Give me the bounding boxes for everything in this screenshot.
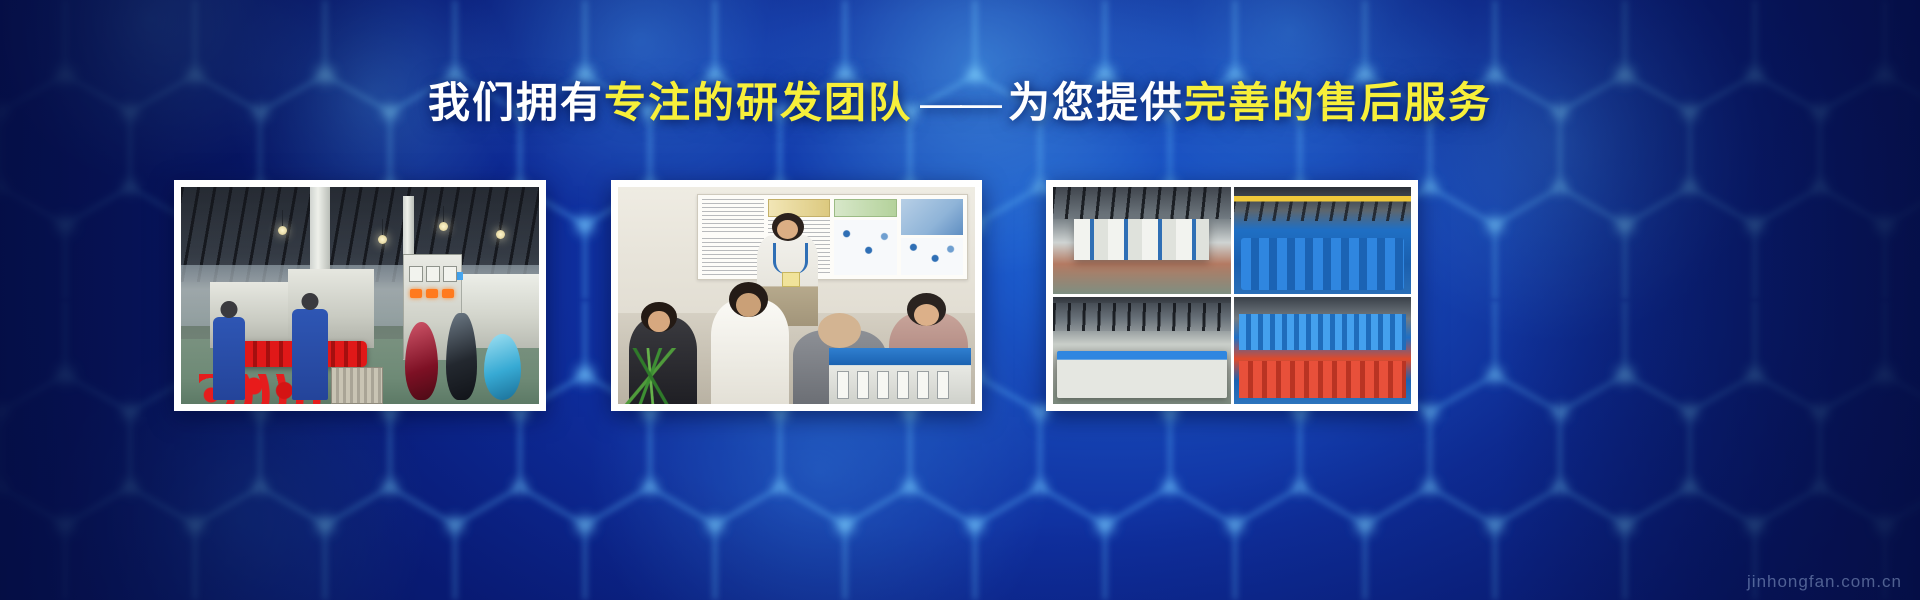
headline: 我们拥有专注的研发团队——为您提供完善的售后服务	[428, 78, 1492, 128]
photo-card-team-meeting	[611, 180, 982, 411]
seated-person-dark-face	[648, 311, 669, 333]
headline-part-2-highlight: 专注的研发团队	[604, 79, 912, 126]
ceiling-lamp-3	[439, 222, 448, 231]
foreground-person-head	[818, 313, 861, 348]
vase-red	[405, 322, 439, 400]
photo-card-production-line	[174, 180, 546, 411]
promo-banner: 我们拥有专注的研发团队——为您提供完善的售后服务	[0, 0, 1920, 600]
glass-vase-group	[399, 313, 528, 404]
ceiling-lamp-2	[378, 235, 387, 244]
photo-3-image	[1053, 187, 1411, 404]
collage-quadrant-top-left	[1053, 187, 1231, 294]
photo-card-equipment-collage	[1046, 180, 1418, 411]
vase-black	[446, 313, 477, 400]
panel-gauges	[409, 266, 457, 283]
vase-blue	[484, 334, 520, 400]
worker-2	[292, 309, 328, 400]
worker-1	[213, 317, 245, 399]
seated-woman-face	[914, 304, 939, 326]
headline-dash: ——	[912, 79, 1008, 126]
collage-quadrant-top-right	[1234, 187, 1412, 294]
collage-quadrant-bottom-right	[1234, 297, 1412, 404]
technical-display-board	[697, 194, 968, 281]
headline-part-3: 为您提供	[1008, 79, 1184, 126]
presenter-lanyard	[773, 243, 808, 273]
standing-presenter-face	[777, 220, 798, 240]
headline-container: 我们拥有专注的研发团队——为您提供完善的售后服务	[0, 78, 1920, 128]
headline-part-4-highlight: 完善的售后服务	[1184, 79, 1492, 126]
seated-person-face	[736, 293, 761, 317]
photo-gallery	[0, 180, 1920, 415]
site-watermark: jinhongfan.com.cn	[1747, 572, 1902, 592]
presenter-badge	[782, 272, 800, 287]
collage-quadrant-bottom-left	[1053, 297, 1231, 404]
ceiling-lamp-1	[278, 226, 287, 235]
panel-indicator-lights	[410, 289, 455, 298]
headline-part-1: 我们拥有	[428, 79, 604, 126]
parts-basket	[331, 367, 383, 404]
equipment-photo-inset	[829, 348, 972, 404]
foreground-plant	[618, 348, 682, 404]
photo-2-image	[618, 187, 975, 404]
photo-1-image	[181, 187, 539, 404]
